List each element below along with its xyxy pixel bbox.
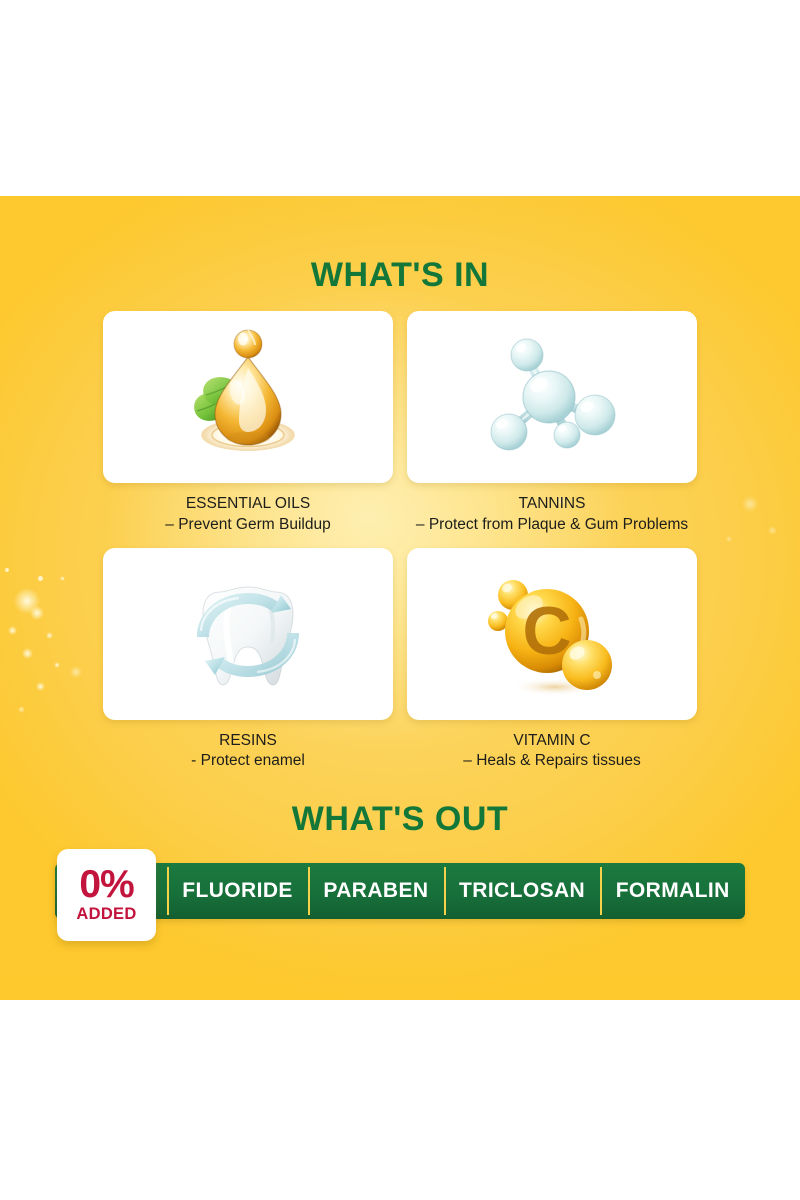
ingredient-caption: TANNINS – Protect from Plaque & Gum Prob… xyxy=(407,494,697,536)
ingredient-row-2: RESINS - Protect enamel xyxy=(103,548,697,773)
sparkle-dot xyxy=(726,536,732,542)
ingredient-name: TANNINS xyxy=(519,495,586,512)
tooth-shield-icon xyxy=(173,559,323,709)
sparkle-dot xyxy=(8,626,17,635)
excluded-item-paraben[interactable]: PARABEN xyxy=(308,863,444,919)
sparkle-dot xyxy=(742,496,758,512)
sparkle-dot xyxy=(22,648,33,659)
excluded-item-formalin[interactable]: FORMALIN xyxy=(600,863,745,919)
ingredient-cell-vitamin-c: C VITAMIN C – Heals & Repairs tissues xyxy=(407,548,697,773)
ingredient-caption: VITAMIN C – Heals & Repairs tissues xyxy=(407,731,697,773)
sparkle-dot xyxy=(70,666,82,678)
oil-drop-icon xyxy=(173,322,323,472)
ingredient-caption: RESINS - Protect enamel xyxy=(103,731,393,773)
whats-out-heading: WHAT'S OUT xyxy=(0,802,800,836)
ingredient-name: RESINS xyxy=(219,732,277,749)
ingredient-cell-resins: RESINS - Protect enamel xyxy=(103,548,393,773)
ingredient-caption: ESSENTIAL OILS – Prevent Germ Buildup xyxy=(103,494,393,536)
ingredient-benefit: - Protect enamel xyxy=(103,751,393,772)
excluded-item-triclosan[interactable]: TRICLOSAN xyxy=(444,863,601,919)
sparkle-dot xyxy=(768,526,777,535)
whats-in-heading: WHAT'S IN xyxy=(0,258,800,292)
ingredient-benefit: – Prevent Germ Buildup xyxy=(103,515,393,536)
ingredient-card[interactable] xyxy=(407,311,697,483)
ingredient-cell-tannins: TANNINS – Protect from Plaque & Gum Prob… xyxy=(407,311,697,536)
sparkle-dot xyxy=(54,662,60,668)
sparkle-dot xyxy=(46,632,53,639)
sparkle-dot xyxy=(60,576,65,581)
ingredient-grid: ESSENTIAL OILS – Prevent Germ Buildup xyxy=(103,311,697,772)
product-infographic: WHAT'S IN xyxy=(0,0,800,1200)
badge-added-label: ADDED xyxy=(76,905,136,924)
sparkle-dot xyxy=(18,706,25,713)
zero-percent-added-badge: 0% ADDED xyxy=(57,849,156,941)
ingredient-benefit: – Heals & Repairs tissues xyxy=(407,751,697,772)
ingredient-card[interactable]: C xyxy=(407,548,697,720)
ingredient-row-1: ESSENTIAL OILS – Prevent Germ Buildup xyxy=(103,311,697,536)
sparkle-dot xyxy=(5,568,9,572)
ingredient-card[interactable] xyxy=(103,548,393,720)
molecule-icon xyxy=(477,322,627,472)
ingredient-cell-essential-oils: ESSENTIAL OILS – Prevent Germ Buildup xyxy=(103,311,393,536)
excluded-ingredients-banner: FLUORIDE PARABEN TRICLOSAN FORMALIN xyxy=(55,863,745,919)
sparkle-dot xyxy=(36,682,45,691)
sparkle-dot xyxy=(14,588,40,614)
ingredient-name: VITAMIN C xyxy=(513,732,590,749)
ingredient-card[interactable] xyxy=(103,311,393,483)
sparkle-dot xyxy=(38,576,43,581)
ingredient-benefit: – Protect from Plaque & Gum Problems xyxy=(407,515,697,536)
small-droplet xyxy=(234,330,262,358)
badge-percent-value: 0% xyxy=(79,866,133,903)
excluded-item-fluoride[interactable]: FLUORIDE xyxy=(167,863,308,919)
ingredient-name: ESSENTIAL OILS xyxy=(186,495,310,512)
sparkle-dot xyxy=(30,606,44,620)
vitamin-c-capsule-icon: C xyxy=(477,559,627,709)
